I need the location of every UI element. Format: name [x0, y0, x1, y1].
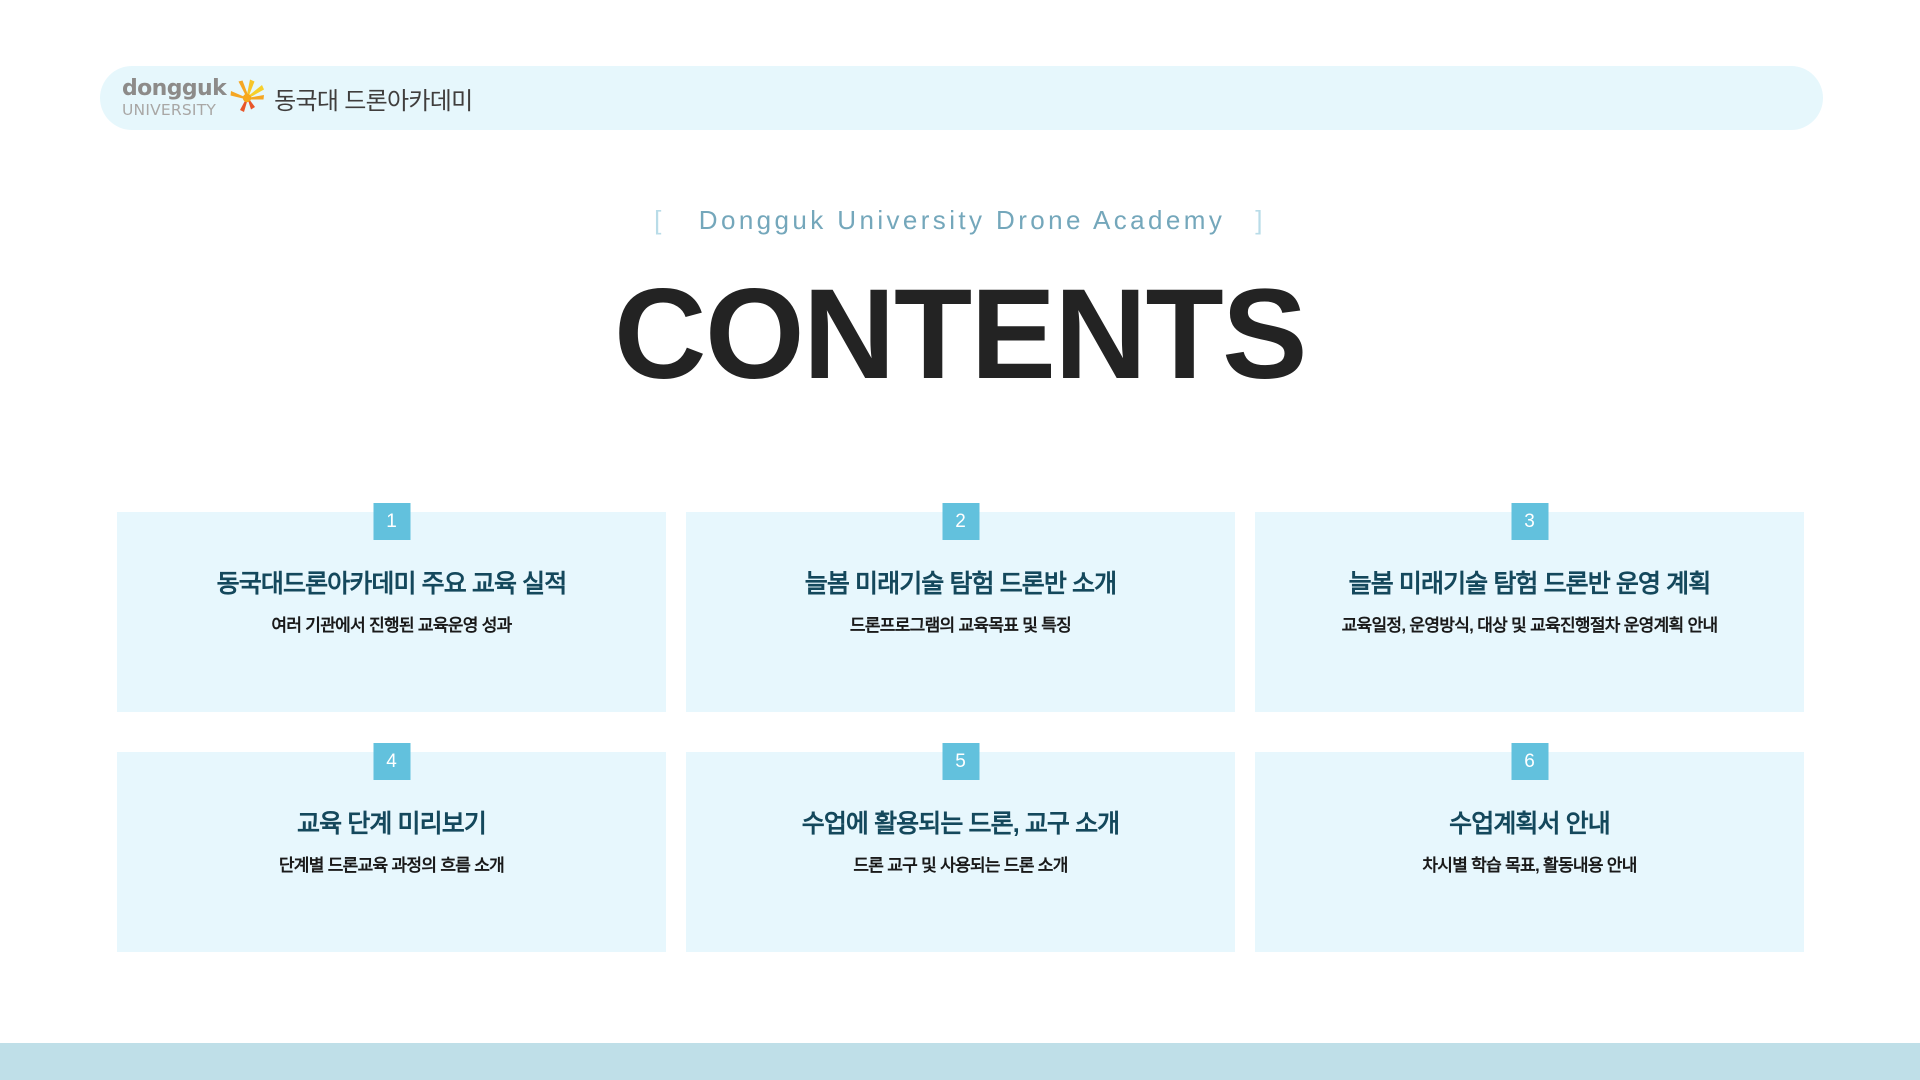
card-title: 동국대드론아카데미 주요 교육 실적	[217, 569, 567, 600]
card-subtitle: 여러 기관에서 진행된 교육운영 성과	[271, 615, 511, 637]
card-number-badge: 3	[1511, 503, 1548, 540]
contents-card-1[interactable]: 1 동국대드론아카데미 주요 교육 실적 여러 기관에서 진행된 교육운영 성과	[117, 512, 666, 712]
page-title: CONTENTS	[0, 268, 1920, 402]
card-subtitle: 차시별 학습 목표, 활동내용 안내	[1422, 855, 1636, 877]
card-subtitle: 드론프로그램의 교육목표 및 특징	[850, 615, 1071, 637]
logo-wordmark-secondary: UNIVERSITY	[122, 102, 216, 118]
eyebrow-bracket-left: [	[654, 205, 665, 235]
brand-lockup: dongguk UNIVERSITY 동국대 드론아카데미	[122, 78, 473, 118]
card-number-badge: 6	[1511, 743, 1548, 780]
contents-card-2[interactable]: 2 늘봄 미래기술 탐험 드론반 소개 드론프로그램의 교육목표 및 특징	[686, 512, 1235, 712]
card-title: 교육 단계 미리보기	[297, 809, 486, 840]
card-number-badge: 2	[942, 503, 979, 540]
logo-wordmark: dongguk UNIVERSITY	[122, 78, 226, 118]
dongguk-logo: dongguk UNIVERSITY	[122, 78, 274, 118]
eyebrow-bracket-right: ]	[1255, 205, 1266, 235]
card-title: 수업계획서 안내	[1449, 809, 1610, 840]
eyebrow-text: Dongguk University Drone Academy	[699, 205, 1225, 235]
eyebrow-line: [Dongguk University Drone Academy]	[0, 205, 1920, 236]
card-title: 늘봄 미래기술 탐험 드론반 운영 계획	[1349, 569, 1711, 600]
slide-root: dongguk UNIVERSITY 동국대 드론아카데미 [Dongguk U…	[0, 0, 1920, 1080]
contents-card-4[interactable]: 4 교육 단계 미리보기 단계별 드론교육 과정의 흐름 소개	[117, 752, 666, 952]
card-number-badge: 5	[942, 743, 979, 780]
contents-card-5[interactable]: 5 수업에 활용되는 드론, 교구 소개 드론 교구 및 사용되는 드론 소개	[686, 752, 1235, 952]
contents-card-6[interactable]: 6 수업계획서 안내 차시별 학습 목표, 활동내용 안내	[1255, 752, 1804, 952]
header-bar: dongguk UNIVERSITY 동국대 드론아카데미	[100, 66, 1823, 130]
contents-card-3[interactable]: 3 늘봄 미래기술 탐험 드론반 운영 계획 교육일정, 운영방식, 대상 및 …	[1255, 512, 1804, 712]
card-subtitle: 단계별 드론교육 과정의 흐름 소개	[279, 855, 504, 877]
dongguk-flower-emblem-icon	[228, 78, 266, 118]
card-number-badge: 1	[373, 503, 410, 540]
card-subtitle: 교육일정, 운영방식, 대상 및 교육진행절차 운영계획 안내	[1342, 615, 1718, 637]
card-number-badge: 4	[373, 743, 410, 780]
header-title: 동국대 드론아카데미	[274, 81, 472, 116]
card-title: 수업에 활용되는 드론, 교구 소개	[802, 809, 1120, 840]
logo-wordmark-primary: dongguk	[122, 78, 226, 100]
card-subtitle: 드론 교구 및 사용되는 드론 소개	[853, 855, 1067, 877]
footer-band	[0, 1043, 1920, 1080]
card-title: 늘봄 미래기술 탐험 드론반 소개	[805, 569, 1117, 600]
contents-grid: 1 동국대드론아카데미 주요 교육 실적 여러 기관에서 진행된 교육운영 성과…	[117, 512, 1804, 952]
